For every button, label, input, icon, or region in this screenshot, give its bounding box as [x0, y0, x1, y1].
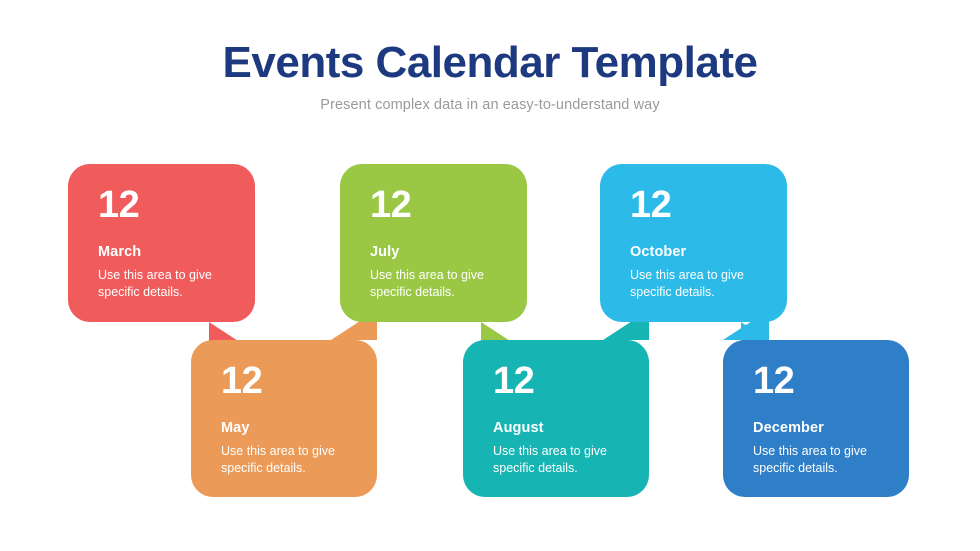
calendar-card-march[interactable]: 12 March Use this area to give specific …: [68, 164, 255, 322]
card-description-may: Use this area to give specific details.: [221, 443, 356, 477]
card-day-march: 12: [98, 186, 235, 224]
card-description-december: Use this area to give specific details.: [753, 443, 888, 477]
calendar-card-october[interactable]: 12 October Use this area to give specifi…: [600, 164, 787, 322]
card-day-october: 12: [630, 186, 767, 224]
card-month-march: March: [98, 244, 235, 260]
card-day-july: 12: [370, 186, 507, 224]
calendar-card-may[interactable]: 12 May Use this area to give specific de…: [191, 340, 377, 497]
card-month-december: December: [753, 420, 889, 436]
card-month-july: July: [370, 244, 507, 260]
calendar-card-july[interactable]: 12 July Use this area to give specific d…: [340, 164, 527, 322]
card-description-july: Use this area to give specific details.: [370, 267, 505, 301]
page-subtitle: Present complex data in an easy-to-under…: [0, 97, 980, 113]
page-title: Events Calendar Template: [0, 38, 980, 87]
slide-canvas: Events Calendar Template Present complex…: [0, 0, 980, 551]
header: Events Calendar Template Present complex…: [0, 38, 980, 113]
card-description-october: Use this area to give specific details.: [630, 267, 765, 301]
card-month-october: October: [630, 244, 767, 260]
card-month-august: August: [493, 420, 629, 436]
card-day-august: 12: [493, 362, 629, 400]
card-month-may: May: [221, 420, 357, 436]
calendar-card-december[interactable]: 12 December Use this area to give specif…: [723, 340, 909, 497]
card-description-march: Use this area to give specific details.: [98, 267, 233, 301]
card-description-august: Use this area to give specific details.: [493, 443, 628, 477]
card-tail-december: [723, 310, 769, 340]
card-day-december: 12: [753, 362, 889, 400]
calendar-card-august[interactable]: 12 August Use this area to give specific…: [463, 340, 649, 497]
card-day-may: 12: [221, 362, 357, 400]
